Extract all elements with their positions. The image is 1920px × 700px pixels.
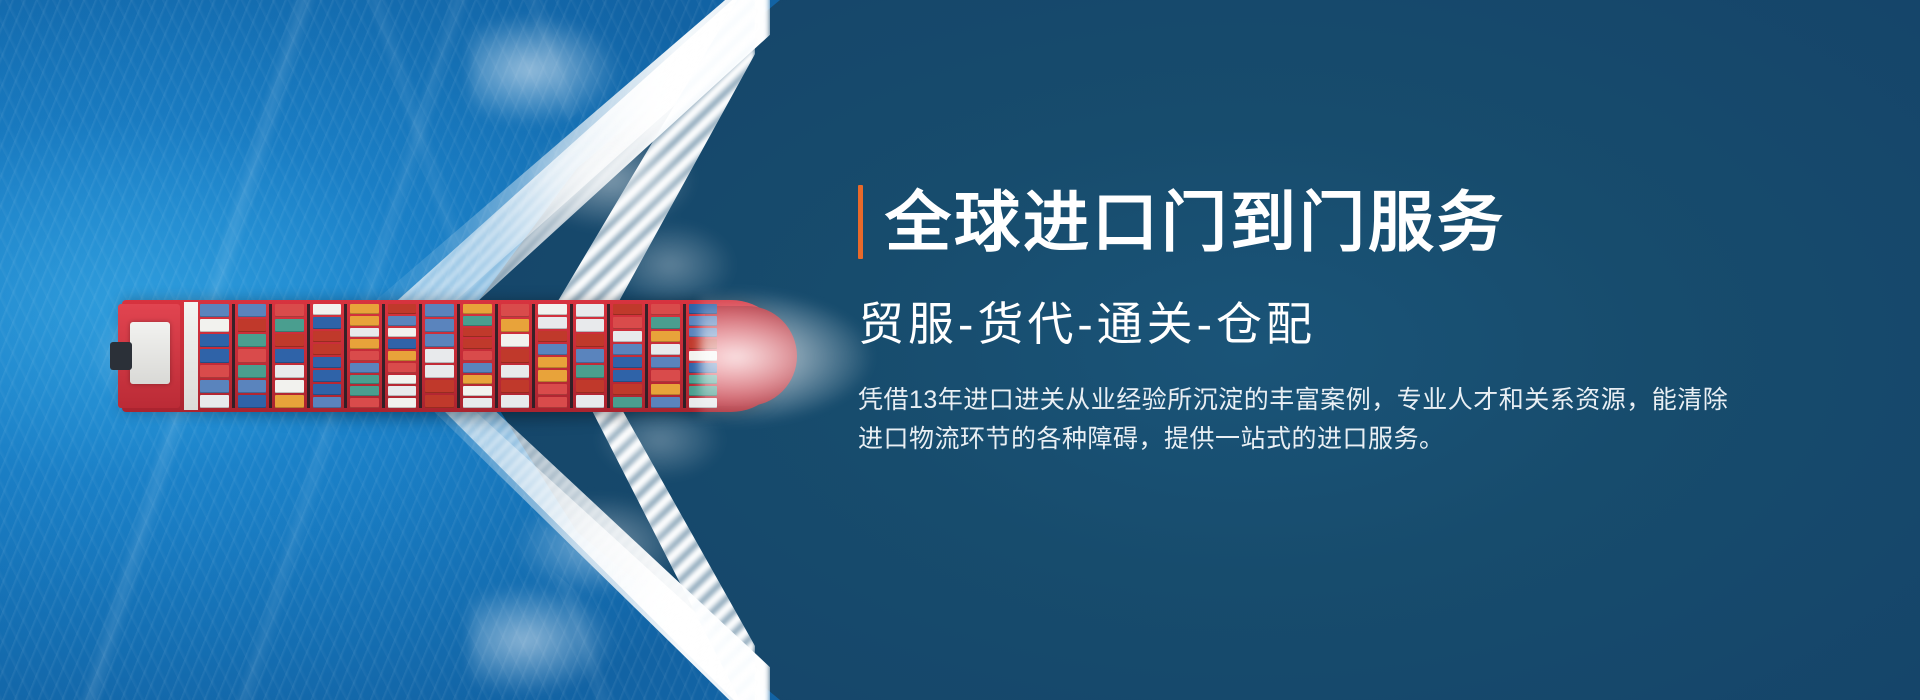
container-bay	[350, 304, 379, 408]
shipping-container	[576, 334, 605, 347]
shipping-container	[463, 363, 492, 373]
shipping-container	[313, 304, 342, 315]
shipping-container	[538, 384, 567, 395]
shipping-container	[238, 334, 267, 347]
shipping-container	[425, 349, 454, 362]
bay-separator	[607, 304, 610, 408]
hero-headline: 全球进口门到门服务	[885, 189, 1506, 255]
container-bay	[313, 304, 342, 408]
shipping-container	[463, 351, 492, 361]
shipping-container	[275, 380, 304, 393]
bow-foam	[700, 286, 880, 428]
headline-row: 全球进口门到门服务	[858, 185, 1858, 259]
shipping-container	[200, 334, 229, 347]
container-bay	[200, 304, 229, 408]
shipping-container	[613, 397, 642, 408]
bay-separator	[307, 304, 310, 408]
orange-accent-bar	[858, 185, 863, 259]
bay-separator	[232, 304, 235, 408]
shipping-container	[576, 304, 605, 317]
shipping-container	[613, 331, 642, 342]
shipping-container	[238, 304, 267, 317]
shipping-container	[313, 384, 342, 395]
shipping-container	[576, 349, 605, 362]
shipping-container	[613, 357, 642, 368]
shipping-container	[200, 304, 229, 317]
shipping-container	[463, 386, 492, 396]
container-bay	[613, 304, 642, 408]
shipping-container	[388, 375, 417, 385]
shipping-container	[350, 363, 379, 373]
bay-separator	[457, 304, 460, 408]
shipping-container	[613, 370, 642, 381]
shipping-container	[350, 398, 379, 408]
shipping-container	[613, 317, 642, 328]
container-bay	[238, 304, 267, 408]
bay-separator	[382, 304, 385, 408]
shipping-container	[275, 319, 304, 332]
shipping-container	[388, 316, 417, 326]
shipping-container	[313, 331, 342, 342]
shipping-container	[425, 334, 454, 347]
shipping-container	[651, 357, 680, 368]
bay-separator	[419, 304, 422, 408]
shipping-container	[425, 380, 454, 393]
shipping-container	[501, 334, 530, 347]
hero-banner: 全球进口门到门服务 贸服-货代-通关-仓配 凭借13年进口进关从业经验所沉淀的丰…	[0, 0, 1920, 700]
shipping-container	[388, 386, 417, 396]
container-bay	[538, 304, 567, 408]
bay-separator	[532, 304, 535, 408]
shipping-container	[463, 339, 492, 349]
shipping-container	[238, 380, 267, 393]
bay-separator	[344, 304, 347, 408]
bay-separator	[495, 304, 498, 408]
hero-subheadline: 贸服-货代-通关-仓配	[858, 301, 1858, 347]
ship-bridge	[130, 322, 170, 384]
shipping-container	[576, 395, 605, 408]
shipping-container	[350, 339, 379, 349]
container-bay	[463, 304, 492, 408]
shipping-container	[350, 304, 379, 314]
container-bay	[576, 304, 605, 408]
shipping-container	[313, 317, 342, 328]
shipping-container	[200, 319, 229, 332]
shipping-container	[501, 395, 530, 408]
shipping-container	[275, 349, 304, 362]
shipping-container	[425, 304, 454, 317]
container-bay	[651, 304, 680, 408]
shipping-container	[388, 351, 417, 361]
shipping-container	[538, 331, 567, 342]
shipping-container	[651, 384, 680, 395]
shipping-container	[501, 349, 530, 362]
shipping-container	[200, 365, 229, 378]
hero-description: 凭借13年进口进关从业经验所沉淀的丰富案例，专业人才和关系资源，能清除进口物流环…	[858, 381, 1738, 459]
shipping-container	[275, 334, 304, 347]
shipping-container	[538, 304, 567, 315]
shipping-container	[651, 331, 680, 342]
shipping-container	[425, 395, 454, 408]
shipping-container	[613, 304, 642, 315]
shipping-container	[501, 319, 530, 332]
shipping-container	[538, 370, 567, 381]
shipping-container	[538, 344, 567, 355]
shipping-container	[651, 370, 680, 381]
shipping-container	[651, 344, 680, 355]
bay-separator	[683, 304, 686, 408]
shipping-container	[538, 397, 567, 408]
shipping-container	[200, 349, 229, 362]
bay-separator	[645, 304, 648, 408]
shipping-container	[200, 380, 229, 393]
container-bay	[501, 304, 530, 408]
shipping-container	[350, 351, 379, 361]
shipping-container	[350, 386, 379, 396]
shipping-container	[275, 304, 304, 317]
shipping-container	[388, 398, 417, 408]
shipping-container	[576, 365, 605, 378]
shipping-container	[463, 328, 492, 338]
shipping-container	[501, 365, 530, 378]
shipping-container	[463, 375, 492, 385]
shipping-container	[388, 363, 417, 373]
shipping-container	[313, 357, 342, 368]
ship-funnel	[110, 342, 132, 370]
shipping-container	[238, 365, 267, 378]
shipping-container	[313, 370, 342, 381]
shipping-container	[388, 339, 417, 349]
shipping-container	[238, 395, 267, 408]
shipping-container	[463, 316, 492, 326]
shipping-container	[350, 328, 379, 338]
shipping-container	[576, 319, 605, 332]
shipping-container	[238, 319, 267, 332]
shipping-container	[501, 380, 530, 393]
bay-separator	[570, 304, 573, 408]
container-bay	[425, 304, 454, 408]
ship-container-deck	[200, 304, 717, 408]
shipping-container	[275, 395, 304, 408]
shipping-container	[651, 304, 680, 315]
shipping-container	[613, 384, 642, 395]
shipping-container	[576, 380, 605, 393]
shipping-container	[425, 365, 454, 378]
shipping-container	[651, 317, 680, 328]
shipping-container	[275, 365, 304, 378]
shipping-container	[313, 344, 342, 355]
shipping-container	[350, 316, 379, 326]
ship-bulkhead	[184, 302, 198, 410]
container-bay	[275, 304, 304, 408]
shipping-container	[463, 304, 492, 314]
shipping-container	[613, 344, 642, 355]
container-bay	[388, 304, 417, 408]
shipping-container	[388, 304, 417, 314]
shipping-container	[388, 328, 417, 338]
hero-text-block: 全球进口门到门服务 贸服-货代-通关-仓配 凭借13年进口进关从业经验所沉淀的丰…	[858, 185, 1858, 459]
bay-separator	[269, 304, 272, 408]
shipping-container	[238, 349, 267, 362]
shipping-container	[501, 304, 530, 317]
container-ship	[122, 300, 787, 412]
shipping-container	[463, 398, 492, 408]
shipping-container	[425, 319, 454, 332]
shipping-container	[200, 395, 229, 408]
shipping-container	[313, 397, 342, 408]
shipping-container	[651, 397, 680, 408]
shipping-container	[538, 317, 567, 328]
shipping-container	[538, 357, 567, 368]
shipping-container	[350, 375, 379, 385]
